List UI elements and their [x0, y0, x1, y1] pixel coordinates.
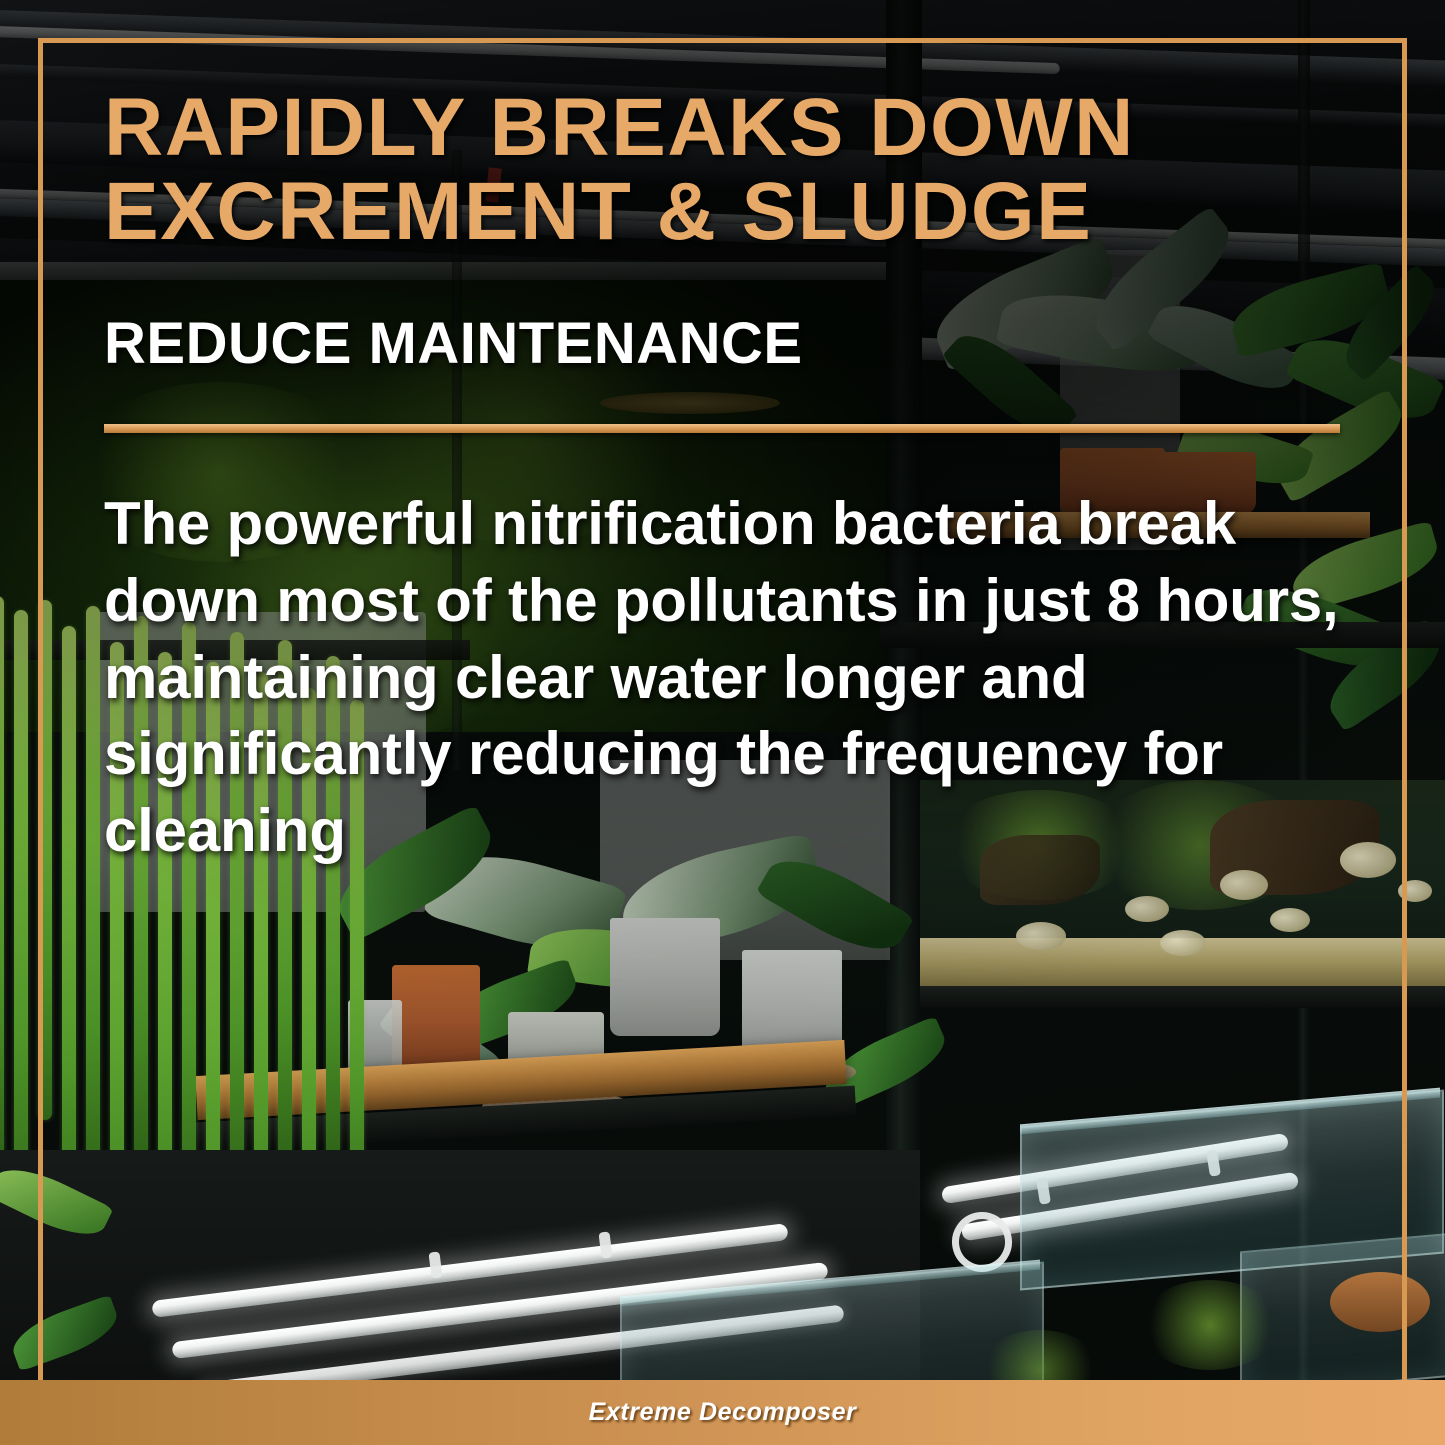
driftwood-disc: [600, 392, 780, 414]
aquatic-moss: [1140, 1280, 1280, 1370]
body-paragraph: The powerful nitrification bacteria brea…: [104, 486, 1354, 870]
footer-bar: Extreme Decomposer: [0, 1380, 1445, 1445]
rack-shelf-bar: [920, 986, 1445, 1008]
product-feature-poster: RAPIDLY BREAKS DOWN EXCREMENT & SLUDGE R…: [0, 0, 1445, 1445]
footer-product-label: Extreme Decomposer: [589, 1398, 857, 1427]
grey-pot: [610, 918, 720, 1036]
gold-divider-rule: [104, 424, 1340, 433]
page-title: RAPIDLY BREAKS DOWN EXCREMENT & SLUDGE: [104, 86, 1344, 253]
subheadline: REDUCE MAINTENANCE: [104, 310, 1344, 377]
terracotta-dish: [1330, 1272, 1430, 1332]
